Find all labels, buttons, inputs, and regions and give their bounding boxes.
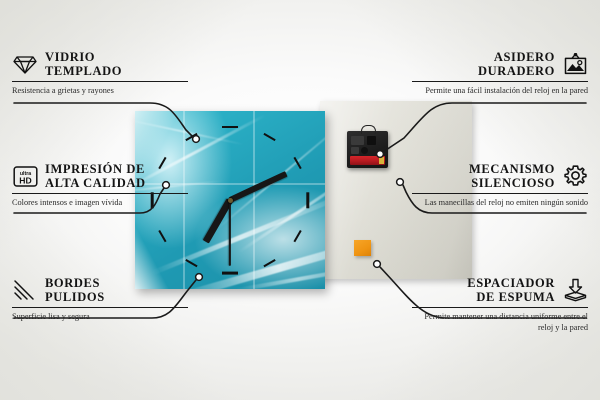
feature-espaciador-de-espuma: ESPACIADOR DE ESPUMA Permite mantener un… (412, 276, 588, 334)
clock-tick (185, 259, 197, 267)
feature-vidrio-templado: VIDRIO TEMPLADO Resistencia a grietas y … (12, 50, 188, 97)
clock-tick (222, 126, 238, 129)
clock-mechanism (347, 131, 388, 168)
feature-title-line1: MECANISMO (469, 162, 555, 176)
feature-title-line2: DE ESPUMA (467, 290, 555, 304)
diagonal-lines-icon (12, 277, 38, 303)
feature-title-line2: SILENCIOSO (469, 176, 555, 190)
feature-description: Resistencia a grietas y rayones (12, 86, 188, 97)
mechanism-detail (351, 147, 359, 154)
feature-divider (412, 193, 588, 194)
clock-tick (222, 272, 238, 275)
foam-pad-arrow-icon (562, 277, 588, 303)
hanging-frame-icon (562, 51, 588, 77)
feature-divider (12, 307, 188, 308)
feature-mecanismo-silencioso: MECANISMO SILENCIOSO Las manecillas del … (412, 162, 588, 209)
feature-asidero-duradero: ASIDERO DURADERO Permite una fácil insta… (412, 50, 588, 97)
feature-description: Permite mantener una distancia uniforme … (412, 312, 588, 334)
feature-title: IMPRESIÓN DE ALTA CALIDAD (45, 162, 146, 190)
feature-description: Superficie lisa y segura (12, 312, 188, 323)
clock-tick (307, 192, 310, 208)
clock-second-hand (229, 200, 231, 266)
diamond-icon (12, 51, 38, 77)
gear-icon (562, 163, 588, 189)
foam-spacer (354, 240, 371, 256)
feature-divider (12, 193, 188, 194)
feature-title-line1: IMPRESIÓN DE (45, 162, 146, 176)
clock-minute-hand (229, 171, 288, 202)
feature-heading: MECANISMO SILENCIOSO (412, 162, 588, 190)
feature-bordes-pulidos: BORDES PULIDOS Superficie lisa y segura (12, 276, 188, 323)
feature-divider (12, 81, 188, 82)
feature-title-line2: DURADERO (478, 64, 555, 78)
battery (350, 156, 385, 165)
feature-description: Colores intensos e imagen vívida (12, 198, 188, 209)
feature-heading: BORDES PULIDOS (12, 276, 188, 304)
feature-description: Permite una fácil instalación del reloj … (412, 86, 588, 97)
clock-tick (158, 230, 166, 242)
mechanism-hanging-hook (361, 125, 376, 134)
feature-divider (412, 81, 588, 82)
clock-center-cap (228, 198, 233, 203)
feature-title: MECANISMO SILENCIOSO (469, 162, 555, 190)
feature-title-line2: ALTA CALIDAD (45, 176, 146, 190)
feature-description: Las manecillas del reloj no emiten ningú… (412, 198, 588, 209)
feature-title: ESPACIADOR DE ESPUMA (467, 276, 555, 304)
product-infographic: VIDRIO TEMPLADO Resistencia a grietas y … (0, 0, 600, 400)
feature-title-line1: VIDRIO (45, 50, 122, 64)
feature-title-line2: PULIDOS (45, 290, 105, 304)
glass-seam (253, 111, 255, 289)
feature-title: BORDES PULIDOS (45, 276, 105, 304)
feature-title-line1: ASIDERO (478, 50, 555, 64)
feature-title-line1: ESPACIADOR (467, 276, 555, 290)
feature-title: VIDRIO TEMPLADO (45, 50, 122, 78)
feature-title-line1: BORDES (45, 276, 105, 290)
feature-divider (412, 307, 588, 308)
feature-heading: ESPACIADOR DE ESPUMA (412, 276, 588, 304)
feature-heading: ASIDERO DURADERO (412, 50, 588, 78)
mechanism-detail (351, 136, 364, 145)
clock-tick (263, 132, 275, 140)
svg-text:HD: HD (19, 175, 31, 185)
mechanism-shaft (361, 147, 368, 154)
feature-title-line2: TEMPLADO (45, 64, 122, 78)
feature-heading: VIDRIO TEMPLADO (12, 50, 188, 78)
feature-title: ASIDERO DURADERO (478, 50, 555, 78)
ultra-hd-icon: ultra HD (12, 163, 38, 189)
mechanism-detail (367, 136, 376, 145)
feature-heading: ultra HD IMPRESIÓN DE ALTA CALIDAD (12, 162, 188, 190)
feature-impresion-alta-calidad: ultra HD IMPRESIÓN DE ALTA CALIDAD Color… (12, 162, 188, 209)
clock-tick (293, 230, 301, 242)
